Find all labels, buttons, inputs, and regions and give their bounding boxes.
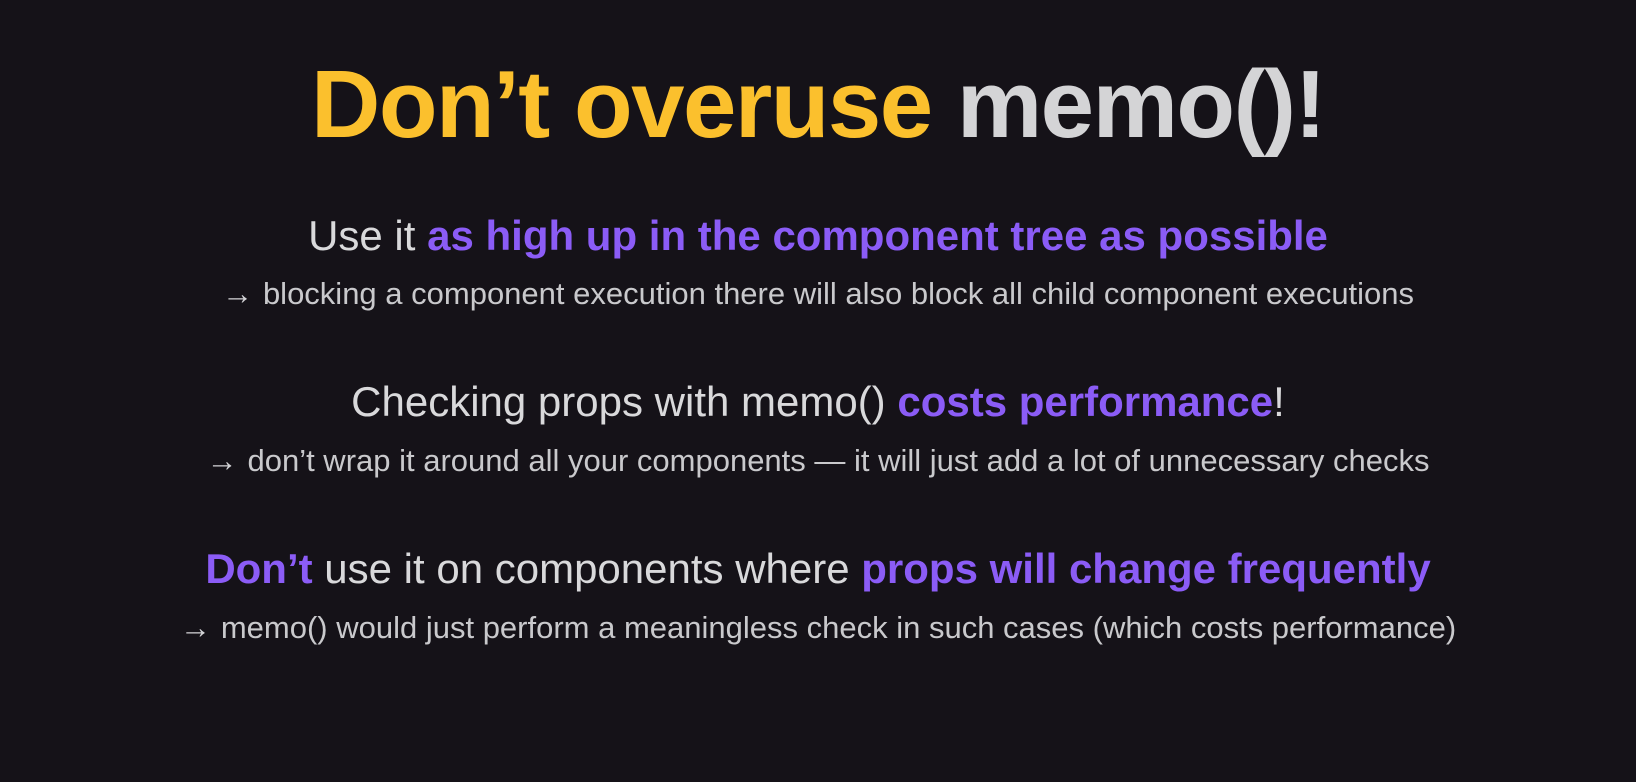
bullet-sub-text: memo() would just perform a meaningless …: [221, 610, 1456, 645]
bullet-main-segment: Checking props with memo(): [351, 378, 897, 425]
bullet-main-segment: Use it: [308, 212, 427, 259]
bullet-list: Use it as high up in the component tree …: [0, 210, 1636, 648]
bullet-group: Don’t use it on components where props w…: [0, 543, 1636, 648]
bullet-sub-text: don’t wrap it around all your components…: [247, 443, 1429, 478]
bullet-main-segment: use it on components where: [313, 545, 862, 592]
bullet-main-segment-highlight: as high up in the component tree as poss…: [427, 212, 1328, 259]
bullet-main-segment-highlight: Don’t: [205, 545, 312, 592]
bullet-main-line: Use it as high up in the component tree …: [308, 210, 1328, 263]
arrow-right-icon: →: [206, 441, 237, 481]
bullet-group: Use it as high up in the component tree …: [0, 210, 1636, 315]
bullet-main-segment-highlight-2: props will change frequently: [861, 545, 1430, 592]
bullet-sub-line: →don’t wrap it around all your component…: [206, 441, 1429, 481]
arrow-right-icon: →: [180, 608, 211, 648]
bullet-main-line: Checking props with memo() costs perform…: [351, 376, 1285, 429]
arrow-right-icon: →: [222, 274, 253, 314]
slide-title-plain: memo()!: [957, 51, 1325, 158]
presentation-slide: Don’t overuse memo()! Use it as high up …: [0, 0, 1636, 782]
bullet-sub-line: →blocking a component execution there wi…: [222, 274, 1414, 314]
slide-title-accent: Don’t overuse: [311, 51, 957, 158]
slide-title: Don’t overuse memo()!: [311, 52, 1325, 158]
bullet-main-line: Don’t use it on components where props w…: [205, 543, 1430, 596]
bullet-main-segment-tail: !: [1273, 378, 1285, 425]
bullet-sub-text: blocking a component execution there wil…: [263, 276, 1414, 311]
bullet-group: Checking props with memo() costs perform…: [0, 376, 1636, 481]
bullet-main-segment-highlight: costs performance: [897, 378, 1273, 425]
bullet-sub-line: →memo() would just perform a meaningless…: [180, 608, 1456, 648]
